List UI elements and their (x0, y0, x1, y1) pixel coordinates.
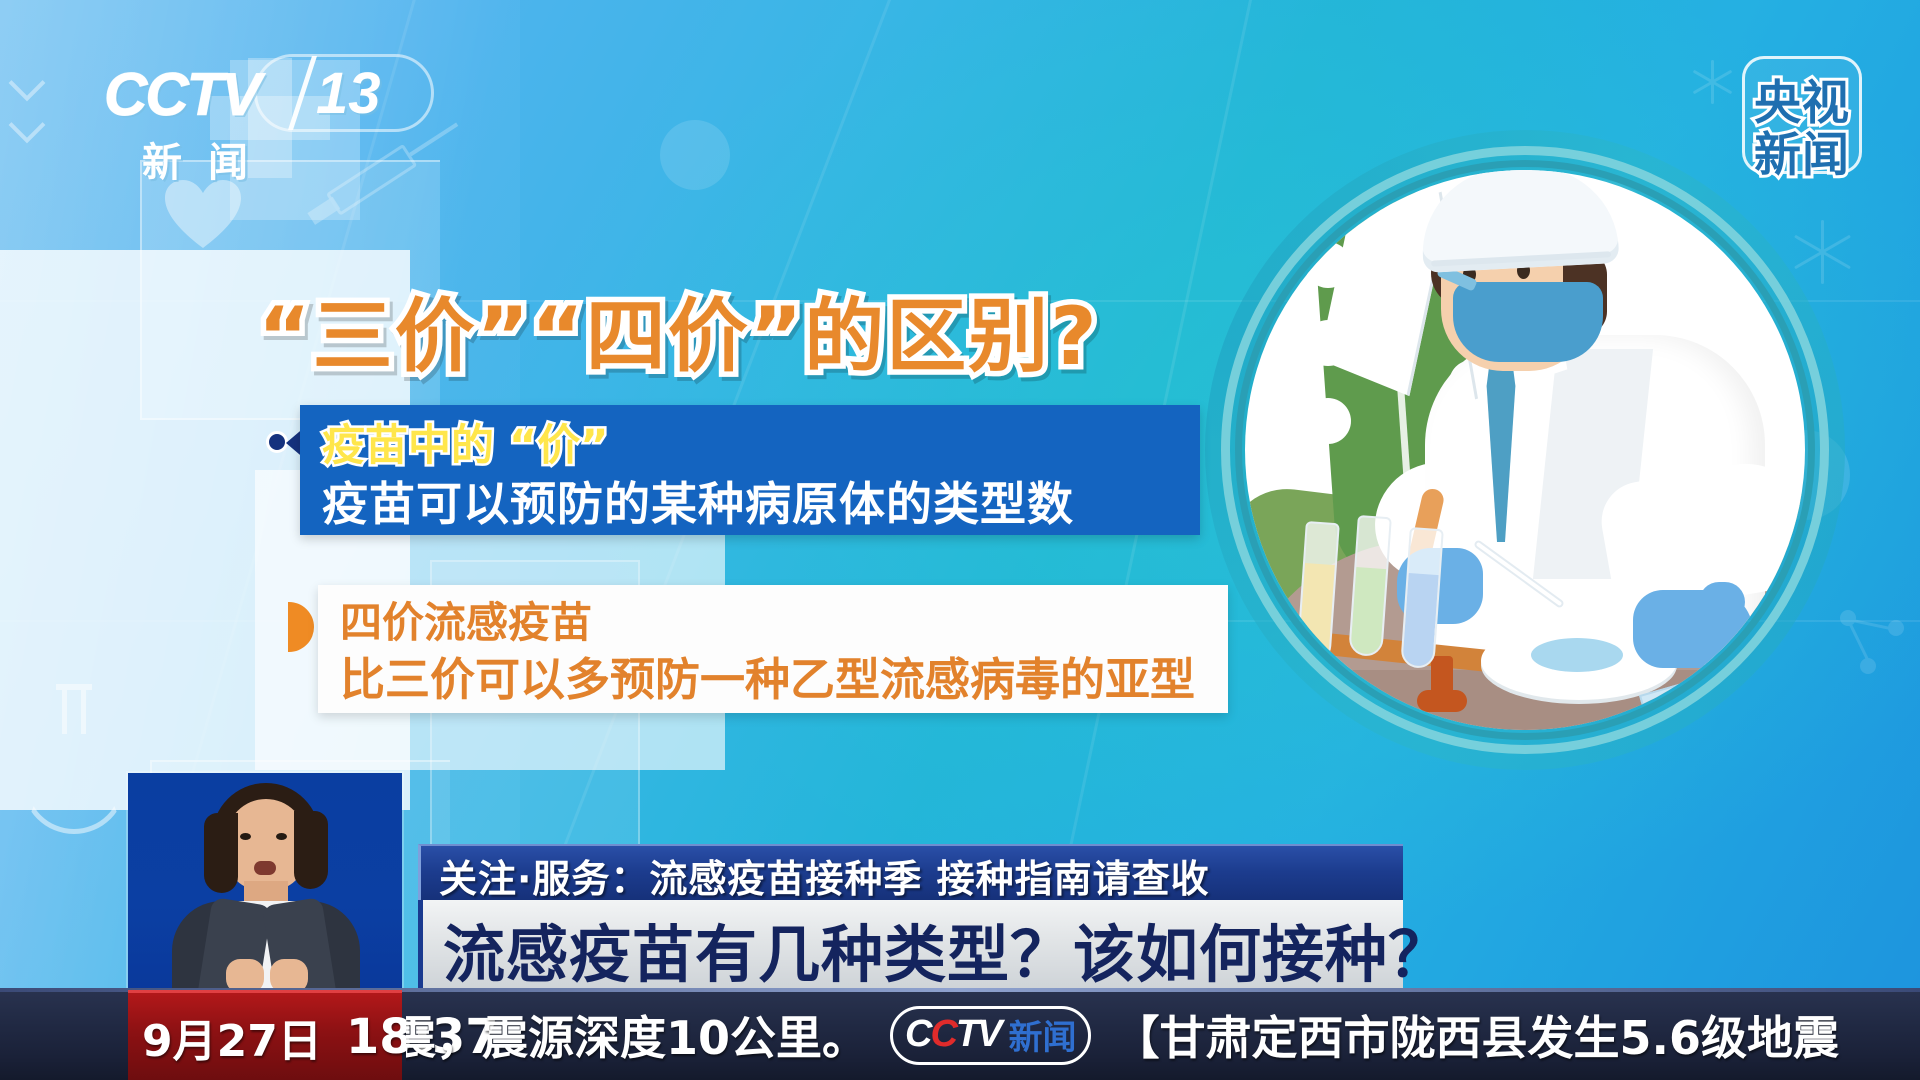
heart-icon (165, 180, 241, 248)
inline-logo-tv: TV (956, 1013, 1001, 1056)
inline-logo-news: 新闻 (1008, 1010, 1076, 1059)
illustration-canvas (1245, 170, 1805, 730)
snowflake-icon (1690, 60, 1734, 104)
scientist-cap (1419, 170, 1620, 273)
cctv-logo-number: 13 (316, 60, 381, 127)
broadcast-screen: CCTV 13 新闻 央视 新闻 (0, 0, 1920, 1080)
ticker-date: 9月27日 (128, 1005, 322, 1069)
ticker-crawl-after: 【甘肃定西市陇西县发生5.6级地震 (1113, 1002, 1839, 1068)
petri-dish-content (1531, 638, 1623, 672)
page-title: “三价”“四价”的区别? (258, 272, 1099, 388)
lower-third-title-bar: 流感疫苗有几种类型？该如何接种？ (418, 900, 1403, 988)
ticker-datetime: 9月27日 18:37 (128, 990, 402, 1080)
info-box-heading: 四价流感疫苗 (340, 589, 592, 650)
lab-scientist-illustration (1205, 130, 1845, 770)
test-tube-rack-foot (1431, 656, 1453, 700)
news-anchor-video-inset (128, 773, 402, 1013)
ticker-crawl: 震，震源深度10公里。 C C TV 新闻 【甘肃定西市陇西县发生5.6级地震 (406, 990, 1920, 1080)
ticker-crawl-before: 震，震源深度10公里。 (406, 1002, 868, 1068)
info-box-heading: 疫苗中的 “价” (322, 411, 609, 473)
inline-logo-c-red: C (930, 1013, 955, 1056)
anchor-hair-side (204, 813, 238, 893)
anchor-eye (276, 833, 287, 840)
anchor-mouth (254, 861, 276, 875)
info-box-vaccine-valency: 疫苗中的 “价” 疫苗可以预防的某种病原体的类型数 (300, 405, 1200, 535)
bullet-arrow-icon (288, 602, 314, 652)
anchor-eye (240, 833, 251, 840)
chevron-down-icon (14, 112, 46, 130)
lower-third-kicker: 关注·服务：流感疫苗接种季 接种指南请查收 (439, 848, 1210, 903)
chevron-down-icon (14, 70, 46, 88)
lower-third-title: 流感疫苗有几种类型？该如何接种？ (443, 904, 1451, 994)
info-box-body: 比三价可以多预防一种乙型流感病毒的亚型 (340, 643, 1195, 708)
lower-third-kicker-bar: 关注·服务：流感疫苗接种季 接种指南请查收 (418, 844, 1403, 900)
info-box-quadrivalent: 四价流感疫苗 比三价可以多预防一种乙型流感病毒的亚型 (318, 585, 1228, 713)
face-mask-icon (1453, 282, 1603, 362)
anchor-hair-side (294, 811, 328, 889)
info-box-body: 疫苗可以预防的某种病原体的类型数 (322, 468, 1074, 534)
cctv-news-inline-logo: C C TV 新闻 (890, 1006, 1091, 1065)
cctv13-logo: CCTV 13 新闻 (104, 58, 404, 178)
cctv-logo-text: CCTV (104, 60, 259, 129)
background-bokeh (660, 120, 730, 190)
inline-logo-c: C (905, 1013, 930, 1056)
flask-icon (14, 690, 134, 840)
glove-right (1633, 590, 1753, 668)
bullet-dot-icon (266, 431, 288, 453)
cctv-logo-subtitle: 新闻 (142, 130, 274, 188)
